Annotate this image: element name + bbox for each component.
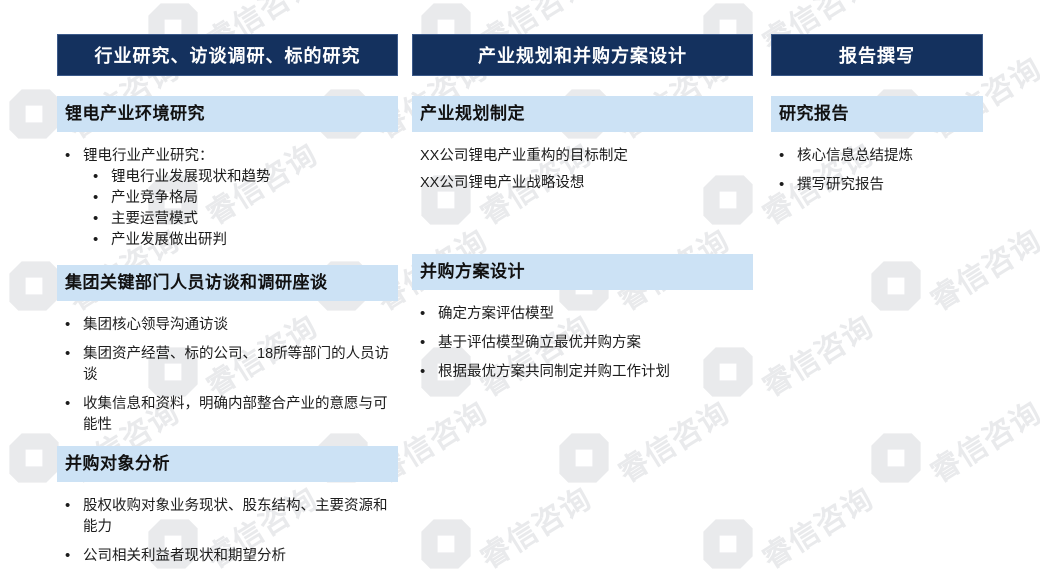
section-acquisition-target-analysis: 并购对象分析 股权收购对象业务现状、股东结构、主要资源和能力 公司相关利益者现状… [57,446,398,567]
bullet-list-3-1: 核心信息总结提炼 撰写研究报告 [771,146,983,196]
list-item: 确定方案评估模型 [412,304,753,325]
bullet-list-1-1: 锂电行业产业研究： [57,146,398,167]
sub-bullet-list-1-1: 锂电行业发展现状和趋势 产业竞争格局 主要运营模式 产业发展做出研判 [57,167,398,251]
section-title-2-2: 并购方案设计 [412,254,753,290]
list-item: 基于评估模型确立最优并购方案 [412,333,753,354]
list-item: 核心信息总结提炼 [771,146,983,167]
section-title-3-1: 研究报告 [771,96,983,132]
list-item: 主要运营模式 [57,209,398,230]
section-title-1-2: 集团关键部门人员访谈和调研座谈 [57,265,398,301]
list-item: 收集信息和资料，明确内部整合产业的意愿与可能性 [57,394,398,436]
list-item: 撰写研究报告 [771,175,983,196]
bullet-list-2-2: 确定方案评估模型 基于评估模型确立最优并购方案 根据最优方案共同制定并购工作计划 [412,304,753,383]
column-header-2: 产业规划和并购方案设计 [412,34,753,76]
section-industry-planning: 产业规划制定 XX公司锂电产业重构的目标制定 XX公司锂电产业战略设想 [412,96,753,194]
list-item: 公司相关利益者现状和期望分析 [57,546,398,567]
list-item: 股权收购对象业务现状、股东结构、主要资源和能力 [57,496,398,538]
list-item: XX公司锂电产业重构的目标制定 [412,146,753,167]
list-item: 根据最优方案共同制定并购工作计划 [412,362,753,383]
column-industry-research: 行业研究、访谈调研、标的研究 锂电产业环境研究 锂电行业产业研究： 锂电行业发展… [57,34,398,567]
bullet-list-1-2: 集团核心领导沟通访谈 集团资产经营、标的公司、18所等部门的人员访谈 收集信息和… [57,315,398,436]
section-title-2-1: 产业规划制定 [412,96,753,132]
list-item: 集团核心领导沟通访谈 [57,315,398,336]
column-planning-and-ma-design: 产业规划和并购方案设计 产业规划制定 XX公司锂电产业重构的目标制定 XX公司锂… [412,34,753,383]
bullet-list-1-3: 股权收购对象业务现状、股东结构、主要资源和能力 公司相关利益者现状和期望分析 [57,496,398,567]
list-item: 锂电行业产业研究： [57,146,398,167]
section-research-report: 研究报告 核心信息总结提炼 撰写研究报告 [771,96,983,196]
section-lithium-environment: 锂电产业环境研究 锂电行业产业研究： 锂电行业发展现状和趋势 产业竞争格局 主要… [57,96,398,251]
section-title-1-1: 锂电产业环境研究 [57,96,398,132]
list-item: 集团资产经营、标的公司、18所等部门的人员访谈 [57,344,398,386]
list-item: 锂电行业发展现状和趋势 [57,167,398,188]
section-key-dept-interviews: 集团关键部门人员访谈和调研座谈 集团核心领导沟通访谈 集团资产经营、标的公司、1… [57,265,398,436]
column-report-writing: 报告撰写 研究报告 核心信息总结提炼 撰写研究报告 [771,34,983,196]
column-header-3: 报告撰写 [771,34,983,76]
column-header-1: 行业研究、访谈调研、标的研究 [57,34,398,76]
section-ma-scheme-design: 并购方案设计 确定方案评估模型 基于评估模型确立最优并购方案 根据最优方案共同制… [412,254,753,383]
section-title-1-3: 并购对象分析 [57,446,398,482]
list-item: 产业发展做出研判 [57,230,398,251]
process-board: 行业研究、访谈调研、标的研究 锂电产业环境研究 锂电行业产业研究： 锂电行业发展… [0,0,1040,555]
plain-list-2-1: XX公司锂电产业重构的目标制定 XX公司锂电产业战略设想 [412,146,753,194]
list-item: 产业竞争格局 [57,188,398,209]
list-item: XX公司锂电产业战略设想 [412,173,753,194]
